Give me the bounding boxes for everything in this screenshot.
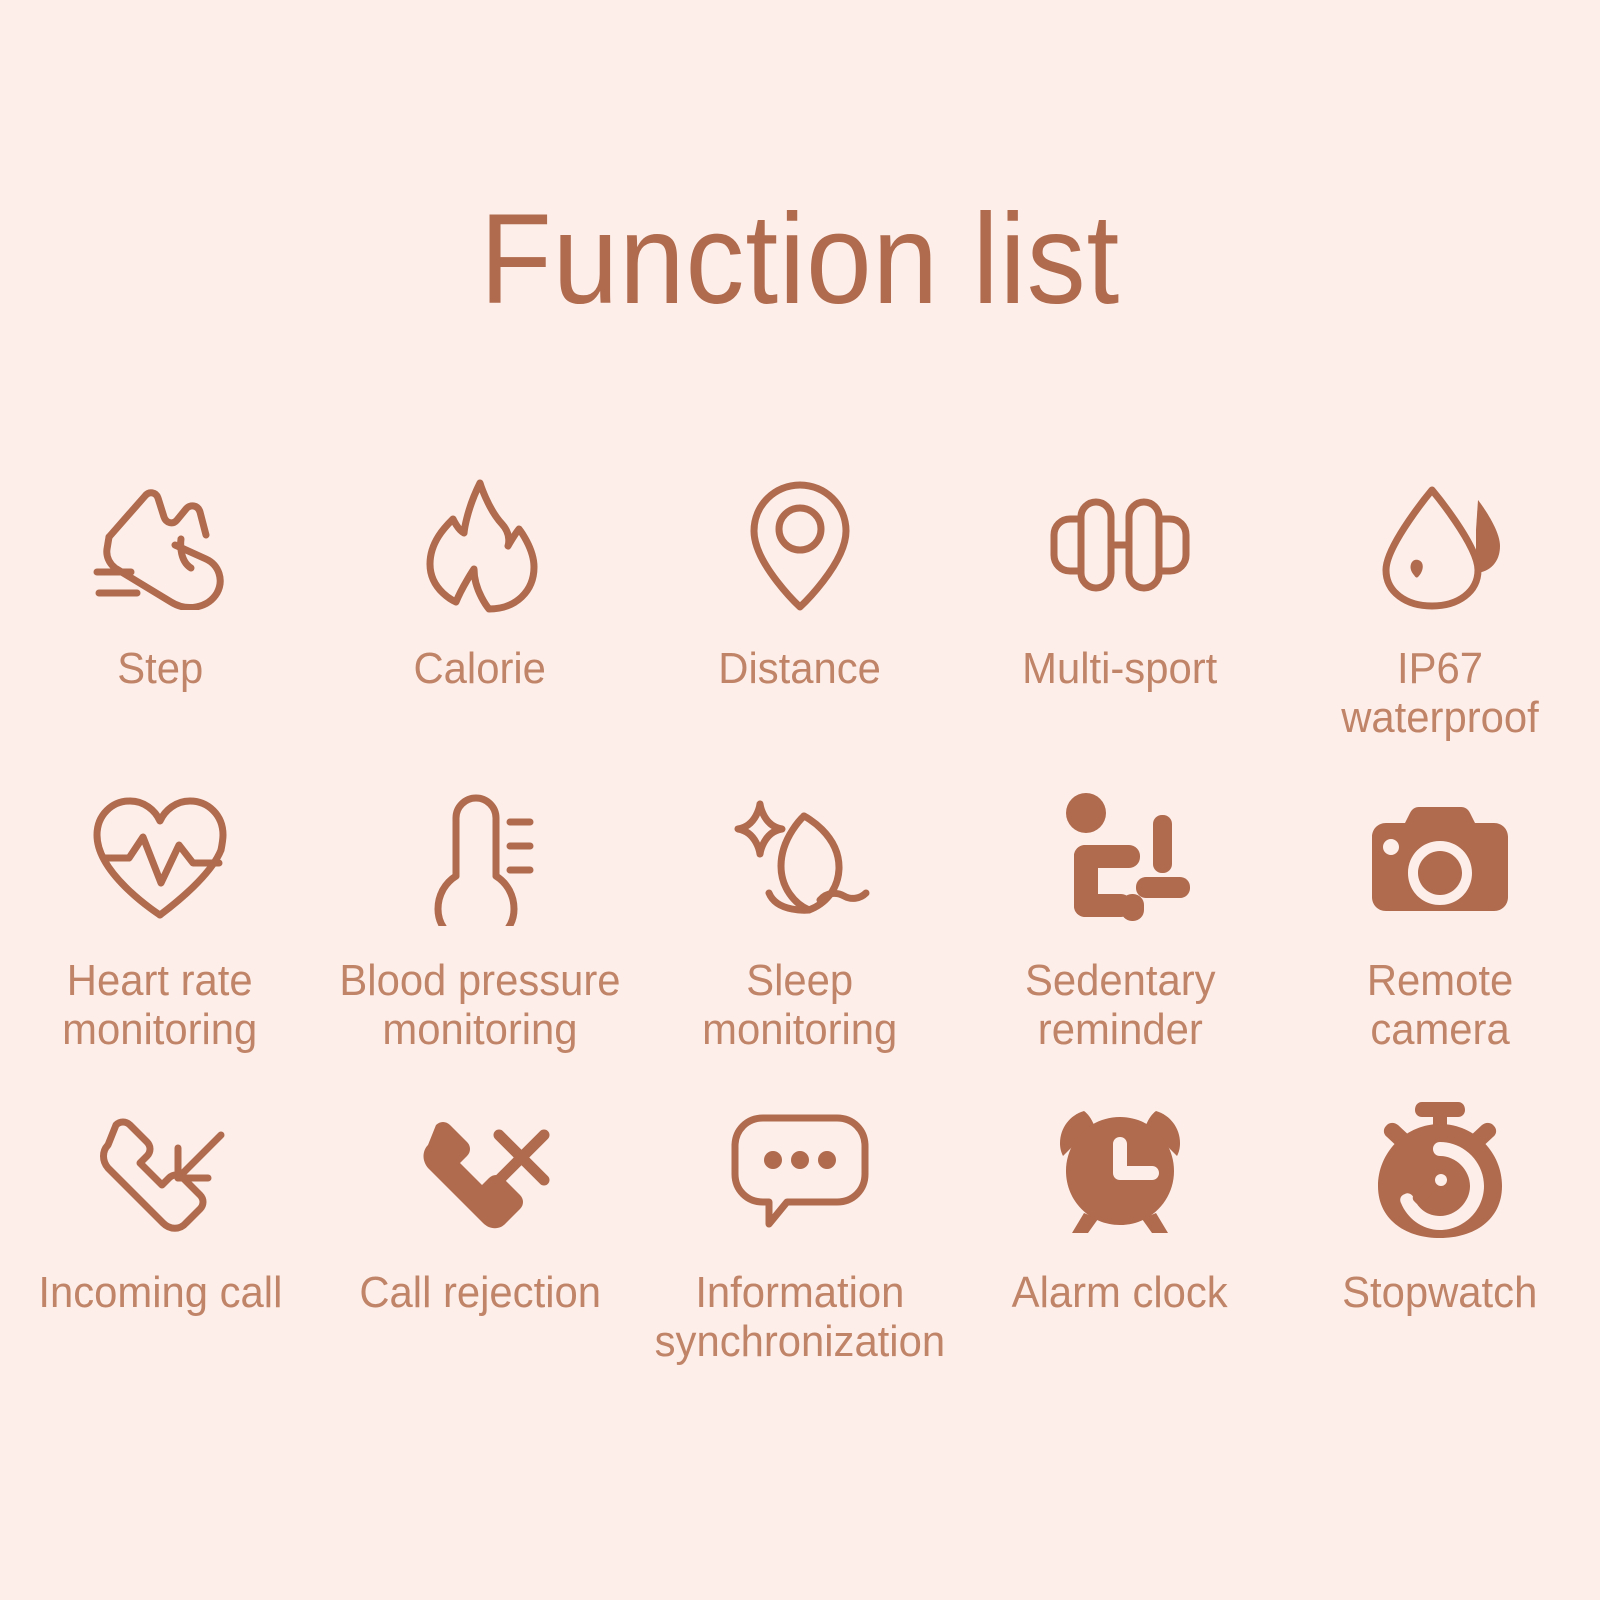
feature-item-info-sync[interactable]: Information synchronization xyxy=(640,1094,960,1406)
page-title: Function list xyxy=(64,196,1536,324)
feature-label: Blood pressure monitoring xyxy=(339,956,620,1055)
feature-label: Heart rate monitoring xyxy=(62,956,257,1055)
feature-label-line2: camera xyxy=(1367,1005,1513,1054)
feature-label-line1: Stopwatch xyxy=(1342,1268,1537,1317)
feature-item-alarm-clock[interactable]: Alarm clock xyxy=(960,1094,1280,1406)
feature-label: Remote camera xyxy=(1367,956,1513,1055)
feature-label: Step xyxy=(117,644,203,693)
feature-item-distance[interactable]: Distance xyxy=(640,470,960,782)
feature-label: Alarm clock xyxy=(1012,1268,1228,1317)
feature-label-line1: Sleep xyxy=(702,956,897,1005)
feature-label: Information synchronization xyxy=(655,1268,945,1367)
feature-label-line1: Sedentary xyxy=(1025,956,1216,1005)
shoe-icon xyxy=(85,470,235,620)
feature-label-line2: synchronization xyxy=(655,1317,945,1366)
feature-item-stopwatch[interactable]: Stopwatch xyxy=(1280,1094,1600,1406)
chat-bubble-icon xyxy=(725,1094,875,1244)
feature-label-line2: monitoring xyxy=(339,1005,620,1054)
feature-item-sleep[interactable]: Sleep monitoring xyxy=(640,782,960,1094)
feature-item-blood-pressure[interactable]: Blood pressure monitoring xyxy=(320,782,640,1094)
feature-label: Incoming call xyxy=(38,1268,282,1317)
feature-item-remote-camera[interactable]: Remote camera xyxy=(1280,782,1600,1094)
phone-reject-icon xyxy=(410,1094,550,1244)
feature-label: Sedentary reminder xyxy=(1025,956,1216,1055)
feature-item-call-rejection[interactable]: Call rejection xyxy=(320,1094,640,1406)
stopwatch-icon xyxy=(1370,1094,1510,1244)
feature-grid: Step Calorie Distance xyxy=(0,470,1600,1406)
feature-item-step[interactable]: Step xyxy=(0,470,320,782)
feature-label: Distance xyxy=(719,644,882,693)
feature-label-line2: reminder xyxy=(1025,1005,1216,1054)
phone-incoming-icon xyxy=(90,1094,230,1244)
feature-label-line1: Blood pressure xyxy=(339,956,620,1005)
function-list-page: Function list Step xyxy=(0,0,1600,1600)
camera-icon xyxy=(1372,782,1508,932)
feature-label-line1: Heart rate xyxy=(62,956,257,1005)
feature-label-line1: IP67 waterproof xyxy=(1293,644,1588,743)
feature-label: Calorie xyxy=(414,644,546,693)
feature-label-line1: Distance xyxy=(719,644,882,693)
feature-label-line1: Information xyxy=(655,1268,945,1317)
thermometer-icon xyxy=(420,782,540,932)
alarm-clock-icon xyxy=(1054,1094,1186,1244)
feature-label-line2: monitoring xyxy=(62,1005,257,1054)
heart-pulse-icon xyxy=(85,782,235,932)
feature-label-line1: Call rejection xyxy=(359,1268,601,1317)
feature-label: Multi-sport xyxy=(1022,644,1217,693)
feature-label-line1: Remote xyxy=(1367,956,1513,1005)
dumbbell-icon xyxy=(1040,470,1200,620)
feature-item-calorie[interactable]: Calorie xyxy=(320,470,640,782)
feature-label-line1: Multi-sport xyxy=(1022,644,1217,693)
feature-item-heart-rate[interactable]: Heart rate monitoring xyxy=(0,782,320,1094)
feature-item-sedentary[interactable]: Sedentary reminder xyxy=(960,782,1280,1094)
feature-item-multi-sport[interactable]: Multi-sport xyxy=(960,470,1280,782)
feature-label: Sleep monitoring xyxy=(702,956,897,1055)
map-pin-icon xyxy=(744,470,856,620)
feature-label: IP67 waterproof xyxy=(1293,644,1588,743)
person-at-desk-icon xyxy=(1050,782,1190,932)
feature-label-line1: Step xyxy=(117,644,203,693)
feature-label-line1: Alarm clock xyxy=(1012,1268,1228,1317)
feature-label-line1: Incoming call xyxy=(38,1268,282,1317)
feature-label: Call rejection xyxy=(359,1268,601,1317)
feature-item-incoming-call[interactable]: Incoming call xyxy=(0,1094,320,1406)
water-drop-icon xyxy=(1370,470,1510,620)
feature-item-waterproof[interactable]: IP67 waterproof xyxy=(1280,470,1600,782)
feature-label-line2: monitoring xyxy=(702,1005,897,1054)
feature-label: Stopwatch xyxy=(1342,1268,1537,1317)
moon-star-icon xyxy=(725,782,875,932)
feature-label-line1: Calorie xyxy=(414,644,546,693)
flame-icon xyxy=(416,470,544,620)
